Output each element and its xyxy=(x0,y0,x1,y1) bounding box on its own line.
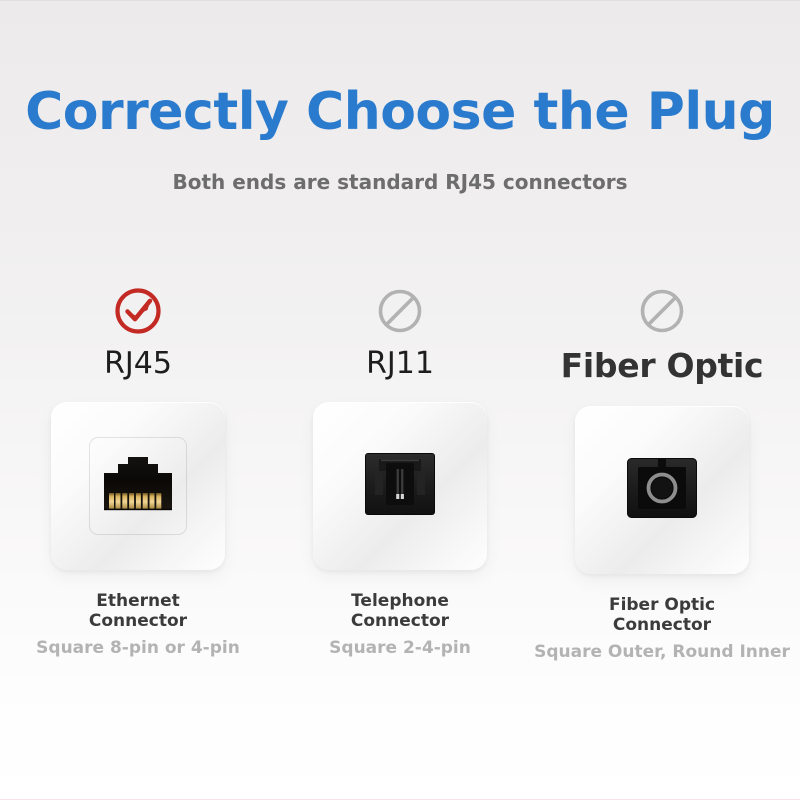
rj11-jack-icon xyxy=(365,453,435,519)
plug-type-label-rj45: RJ45 xyxy=(104,348,172,380)
no-entry-icon xyxy=(373,284,427,338)
connector-column-rj11: RJ11 xyxy=(269,284,531,659)
check-circle-icon xyxy=(111,284,165,338)
fiber-optic-jack-icon xyxy=(627,458,697,522)
rj45-jack-icon xyxy=(102,453,174,519)
connector-subcaption-rj45: Square 8-pin or 4-pin xyxy=(36,638,240,658)
page-title: Correctly Choose the Plug xyxy=(0,86,800,138)
faceplate-rj11[interactable] xyxy=(313,402,487,570)
connector-comparison-row: RJ45 xyxy=(0,284,800,662)
connector-caption-rj45: Ethernet Connector xyxy=(48,591,228,631)
connector-column-fiber: Fiber Optic xyxy=(531,284,793,662)
page-subtitle: Both ends are standard RJ45 connectors xyxy=(0,171,800,193)
connector-caption-rj11: Telephone Connector xyxy=(335,591,465,631)
poster-canvas: Correctly Choose the Plug Both ends are … xyxy=(0,0,800,800)
faceplate-rj45[interactable] xyxy=(51,402,225,570)
no-entry-icon xyxy=(635,284,689,338)
plug-type-label-rj11: RJ11 xyxy=(366,348,434,380)
plug-type-label-fiber: Fiber Optic xyxy=(561,348,764,384)
faceplate-fiber[interactable] xyxy=(575,406,749,574)
connector-column-rj45: RJ45 xyxy=(7,284,269,659)
connector-subcaption-fiber: Square Outer, Round Inner xyxy=(534,642,790,662)
connector-subcaption-rj11: Square 2-4-pin xyxy=(329,638,471,658)
connector-caption-fiber: Fiber Optic Connector xyxy=(572,595,752,635)
